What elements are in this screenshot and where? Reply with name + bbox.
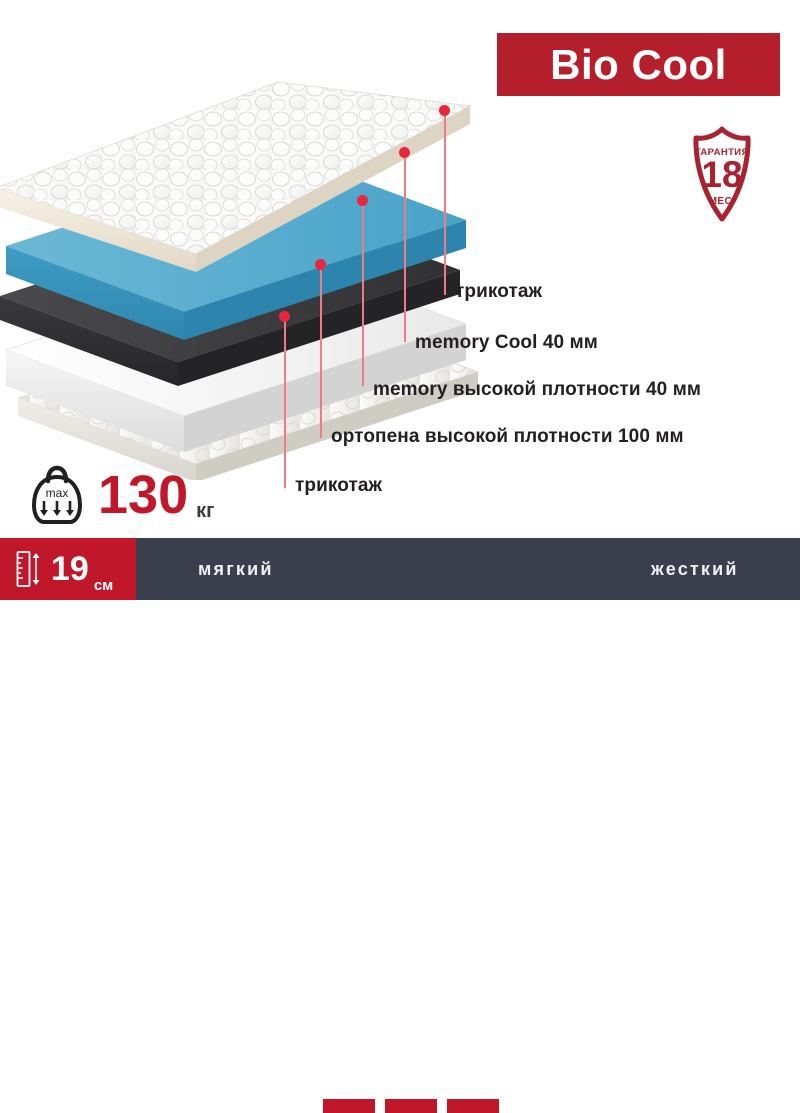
firmness-segment-3 (447, 1099, 499, 1113)
leader-line-memory-cool (404, 152, 406, 342)
firmness-soft-label: мягкий (198, 559, 274, 580)
firmness-segment-4 (509, 1099, 561, 1113)
mattress-exploded-diagram (0, 20, 500, 470)
page-title: Bio Cool (550, 41, 727, 89)
callout-dot-memory-cool (399, 147, 410, 158)
guarantee-value: 18 (676, 156, 768, 193)
leader-line-ortopena (320, 264, 322, 438)
guarantee-badge: ГАРАНТИЯ 18 МЕС. (676, 125, 768, 225)
max-weight-value: 130 (98, 468, 188, 522)
max-weight-block: max 130 кг (28, 460, 214, 530)
callout-dot-memory-dense (357, 195, 368, 206)
ruler-icon (16, 550, 42, 588)
firmness-segment-5 (571, 1099, 623, 1113)
layer-label-memory-cool: memory Cool 40 мм (415, 332, 598, 354)
bottom-spec-bar: 19 см мягкий жесткий (0, 538, 800, 600)
callout-dot-ortopena (315, 259, 326, 270)
firmness-segment-1 (323, 1099, 375, 1113)
layer-label-bottom-knit: трикотаж (295, 475, 382, 497)
height-unit: см (94, 577, 113, 594)
guarantee-unit: МЕС. (676, 196, 768, 207)
layer-label-memory-dense: memory высокой плотности 40 мм (373, 379, 701, 401)
kettlebell-icon: max (28, 464, 86, 526)
height-value: 19 (51, 552, 89, 586)
leader-line-bottom-knit (284, 316, 286, 488)
leader-line-top-knit (444, 110, 446, 295)
callout-dot-top-knit (439, 105, 450, 116)
firmness-segment-2 (385, 1099, 437, 1113)
kettlebell-max-text: max (46, 486, 69, 500)
leader-line-memory-dense (362, 200, 364, 386)
mattress-layers-svg (0, 20, 500, 480)
layer-label-ortopena: ортопена высокой плотности 100 мм (331, 426, 684, 448)
layer-label-top-knit: трикотаж (455, 281, 542, 303)
product-title-banner: Bio Cool (497, 33, 780, 96)
max-weight-unit: кг (196, 500, 214, 523)
firmness-scale (323, 1099, 623, 1113)
product-infographic: трикотаж memory Cool 40 мм memory высоко… (0, 0, 800, 600)
firmness-hard-label: жесткий (651, 559, 739, 580)
callout-dot-bottom-knit (279, 311, 290, 322)
height-block: 19 см (0, 538, 136, 600)
